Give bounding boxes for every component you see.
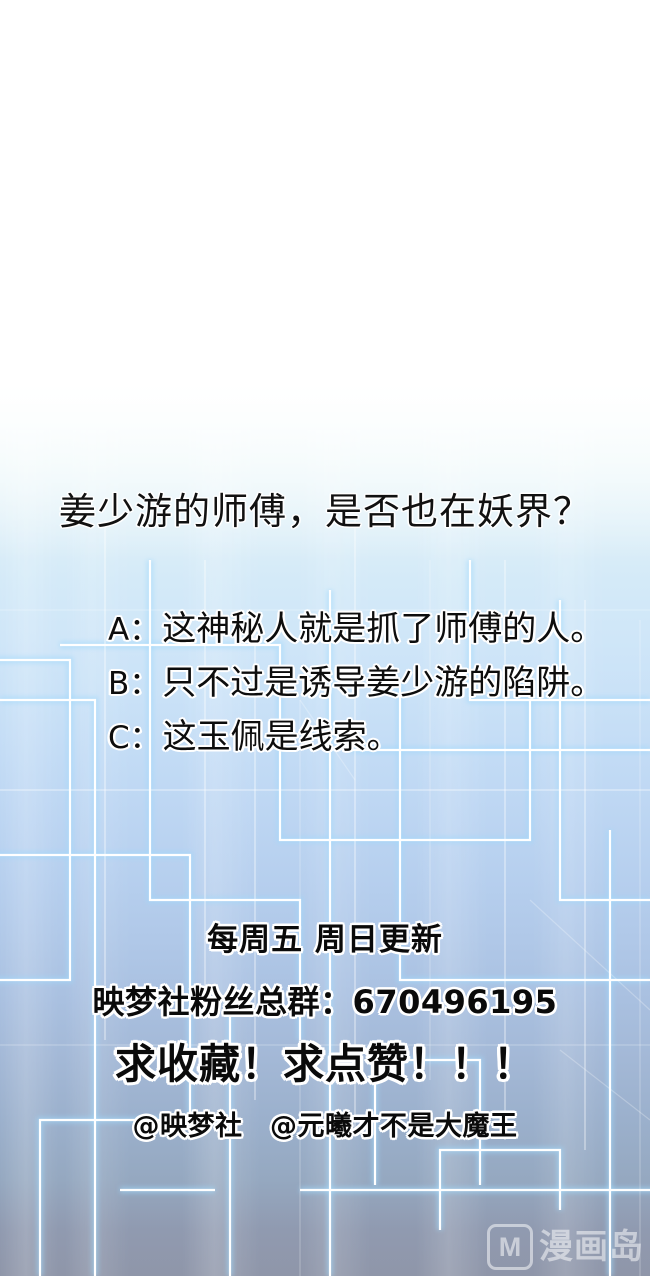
option-b[interactable]: B： 只不过是诱导姜少游的陷阱。 — [108, 656, 648, 710]
option-a-text: 这神秘人就是抓了师傅的人。 — [162, 602, 604, 656]
fan-group-id: 映梦社粉丝总群：670496195 — [0, 980, 650, 1024]
watermark-site-name: 漫画岛 — [539, 1230, 644, 1264]
answer-options-list: A： 这神秘人就是抓了师傅的人。 B： 只不过是诱导姜少游的陷阱。 C： 这玉佩… — [108, 602, 648, 764]
option-b-text: 只不过是诱导姜少游的陷阱。 — [162, 656, 604, 710]
option-b-key: B： — [108, 657, 160, 711]
option-c[interactable]: C： 这玉佩是线索。 — [108, 710, 648, 764]
update-schedule: 每周五 周日更新 — [0, 918, 650, 962]
option-a[interactable]: A： 这神秘人就是抓了师傅的人。 — [108, 602, 648, 656]
site-watermark: M 漫画岛 — [487, 1224, 644, 1270]
call-to-action: 求收藏！求点赞！！！ — [0, 1036, 650, 1092]
watermark-logo-icon: M — [487, 1224, 533, 1270]
author-credits: @映梦社 @元曦才不是大魔王 — [0, 1108, 650, 1146]
promo-block: 每周五 周日更新 映梦社粉丝总群：670496195 求收藏！求点赞！！！ @映… — [0, 918, 650, 1146]
option-c-text: 这玉佩是线索。 — [163, 710, 401, 764]
question-title: 姜少游的师傅，是否也在妖界？ — [0, 489, 650, 535]
comic-panel: 姜少游的师傅，是否也在妖界？ A： 这神秘人就是抓了师傅的人。 B： 只不过是诱… — [0, 0, 650, 1276]
option-a-key: A： — [108, 603, 160, 657]
option-c-key: C： — [108, 711, 161, 765]
